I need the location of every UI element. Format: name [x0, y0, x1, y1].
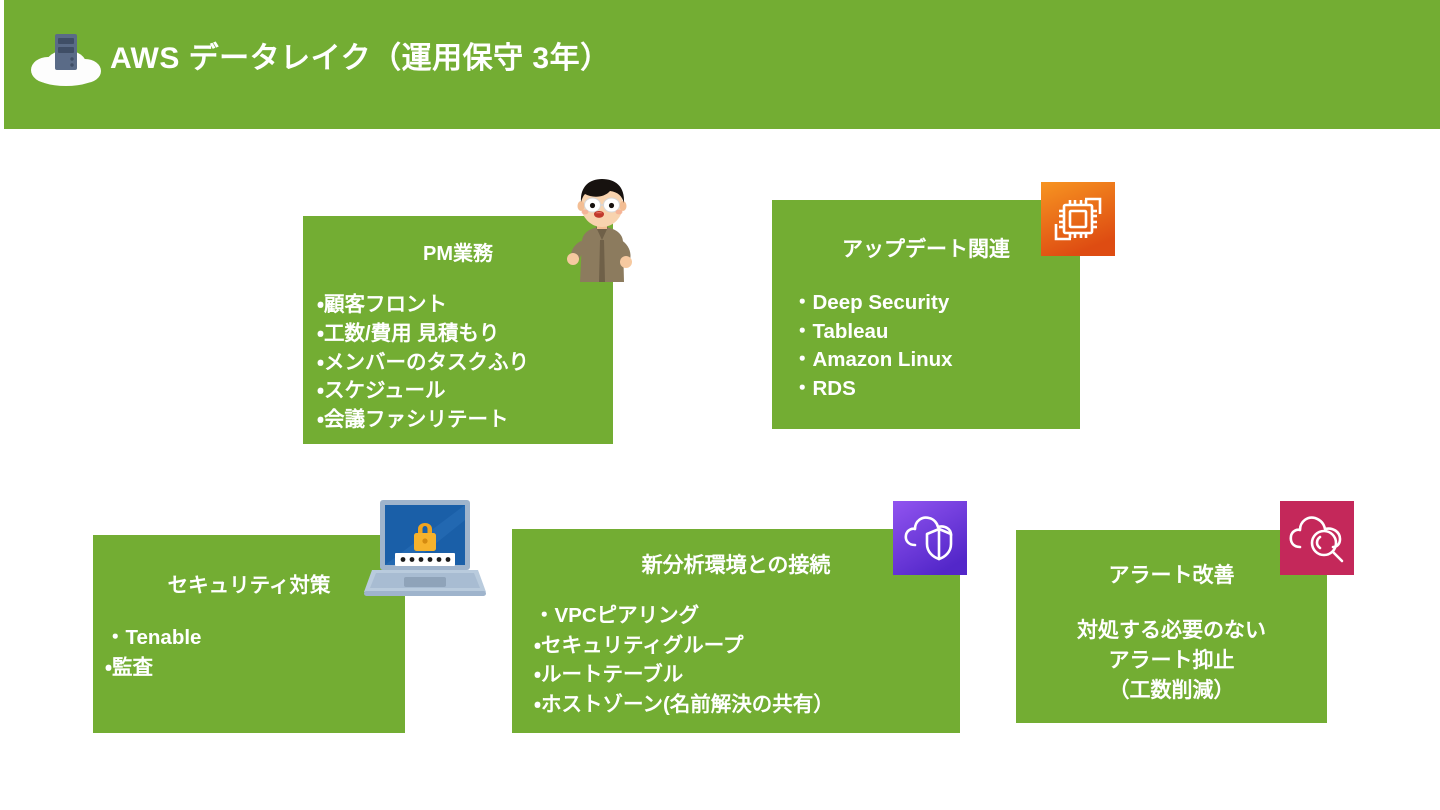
- list-item: ・Tableau: [792, 318, 1080, 347]
- card-list-security: ・Tenable ・監査: [105, 623, 405, 683]
- list-item: ・VPCピアリング: [534, 601, 960, 631]
- ec2-chip-icon: [1041, 182, 1115, 256]
- card-title-update: アップデート関連: [772, 237, 1080, 263]
- card-title-security: セキュリティ対策: [93, 573, 405, 599]
- person-pointing-illustration: [566, 176, 638, 282]
- slide-canvas: AWS データレイク（運用保守 3年） PM業務 ・顧客フロント ・工数/費用 …: [0, 0, 1440, 810]
- body-line: （工数削減）: [1016, 676, 1327, 706]
- card-list-connect: ・VPCピアリング ・セキュリティグループ ・ルートテーブル ・ホストゾーン(名…: [534, 601, 960, 719]
- list-item: ・Amazon Linux: [792, 346, 1080, 375]
- list-item: ・顧客フロント: [317, 291, 613, 320]
- list-item: ・Deep Security: [792, 289, 1080, 318]
- card-list-update: ・Deep Security ・Tableau ・Amazon Linux ・R…: [792, 289, 1080, 403]
- list-item: ・メンバーのタスクふり: [317, 349, 613, 378]
- cloud-magnifier-icon: [1280, 501, 1354, 575]
- cloud-server-icon: [28, 26, 104, 88]
- body-line: 対処する必要のない: [1016, 616, 1327, 646]
- list-item: ・Tenable: [105, 623, 405, 653]
- body-line: アラート抑止: [1016, 646, 1327, 676]
- cloud-shield-icon: [893, 501, 967, 575]
- card-update-related: アップデート関連 ・Deep Security ・Tableau ・Amazon…: [772, 200, 1080, 429]
- list-item: ・工数/費用 見積もり: [317, 320, 613, 349]
- list-item: ・RDS: [792, 375, 1080, 404]
- card-list-pm: ・顧客フロント ・工数/費用 見積もり ・メンバーのタスクふり ・スケジュール …: [317, 291, 613, 435]
- list-item: ・監査: [105, 653, 405, 683]
- list-item: ・ホストゾーン(名前解決の共有）: [534, 690, 960, 720]
- card-body-alert: 対処する必要のない アラート抑止 （工数削減）: [1016, 616, 1327, 706]
- list-item: ・会議ファシリテート: [317, 406, 613, 435]
- list-item: ・スケジュール: [317, 377, 613, 406]
- list-item: ・ルートテーブル: [534, 660, 960, 690]
- laptop-padlock-illustration: [364, 498, 488, 602]
- page-title: AWS データレイク（運用保守 3年）: [110, 36, 611, 82]
- list-item: ・セキュリティグループ: [534, 631, 960, 661]
- card-security-measures: セキュリティ対策 ・Tenable ・監査: [93, 535, 405, 733]
